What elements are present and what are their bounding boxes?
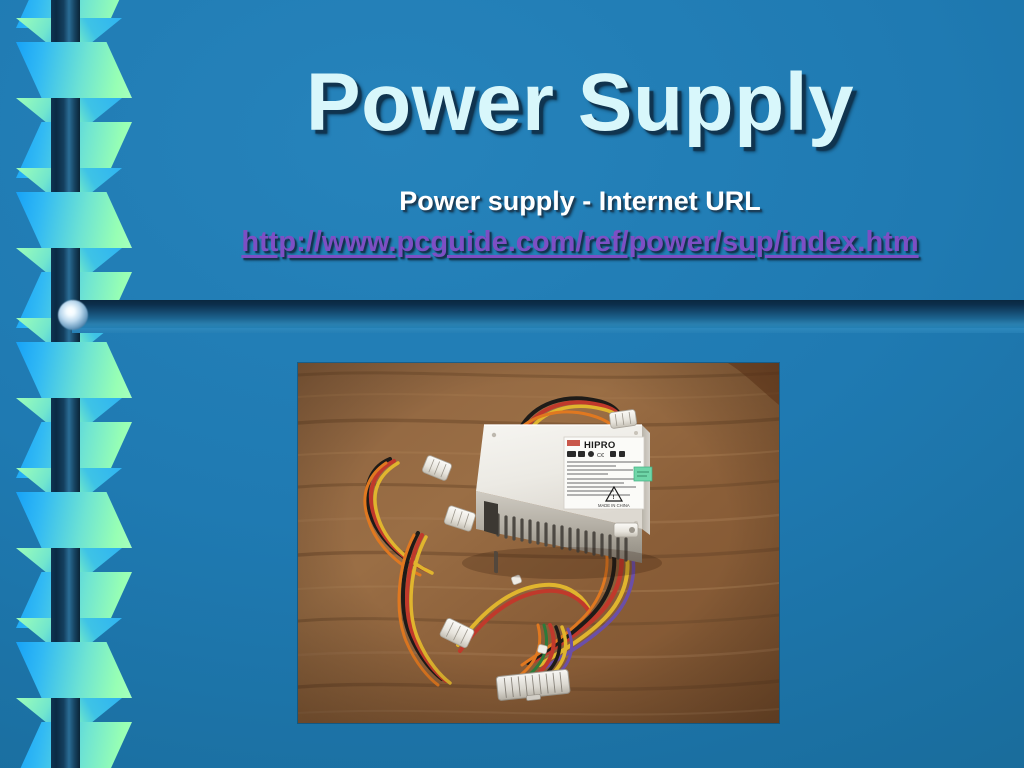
ribbon-band bbox=[16, 492, 132, 548]
power-supply-illustration: HIPRO C€ bbox=[298, 363, 779, 723]
glowing-sphere bbox=[58, 300, 88, 330]
url-line: http://www.pcguide.com/ref/power/sup/ind… bbox=[150, 226, 1010, 259]
presentation-slide: Power Supply Power supply - Internet URL… bbox=[0, 0, 1024, 768]
horizontal-divider-bar bbox=[72, 300, 1024, 328]
ribbon-band bbox=[16, 342, 132, 398]
ribbon-band bbox=[16, 642, 132, 698]
ribbon-band bbox=[16, 192, 132, 248]
ribbon-decoration bbox=[0, 0, 150, 768]
url-hyperlink[interactable]: http://www.pcguide.com/ref/power/sup/ind… bbox=[241, 226, 918, 258]
subtitle-text: Power supply - Internet URL bbox=[150, 186, 1010, 217]
power-supply-photo: HIPRO C€ bbox=[298, 363, 779, 723]
ribbon-band bbox=[16, 42, 132, 98]
page-title: Power Supply bbox=[150, 62, 1010, 144]
